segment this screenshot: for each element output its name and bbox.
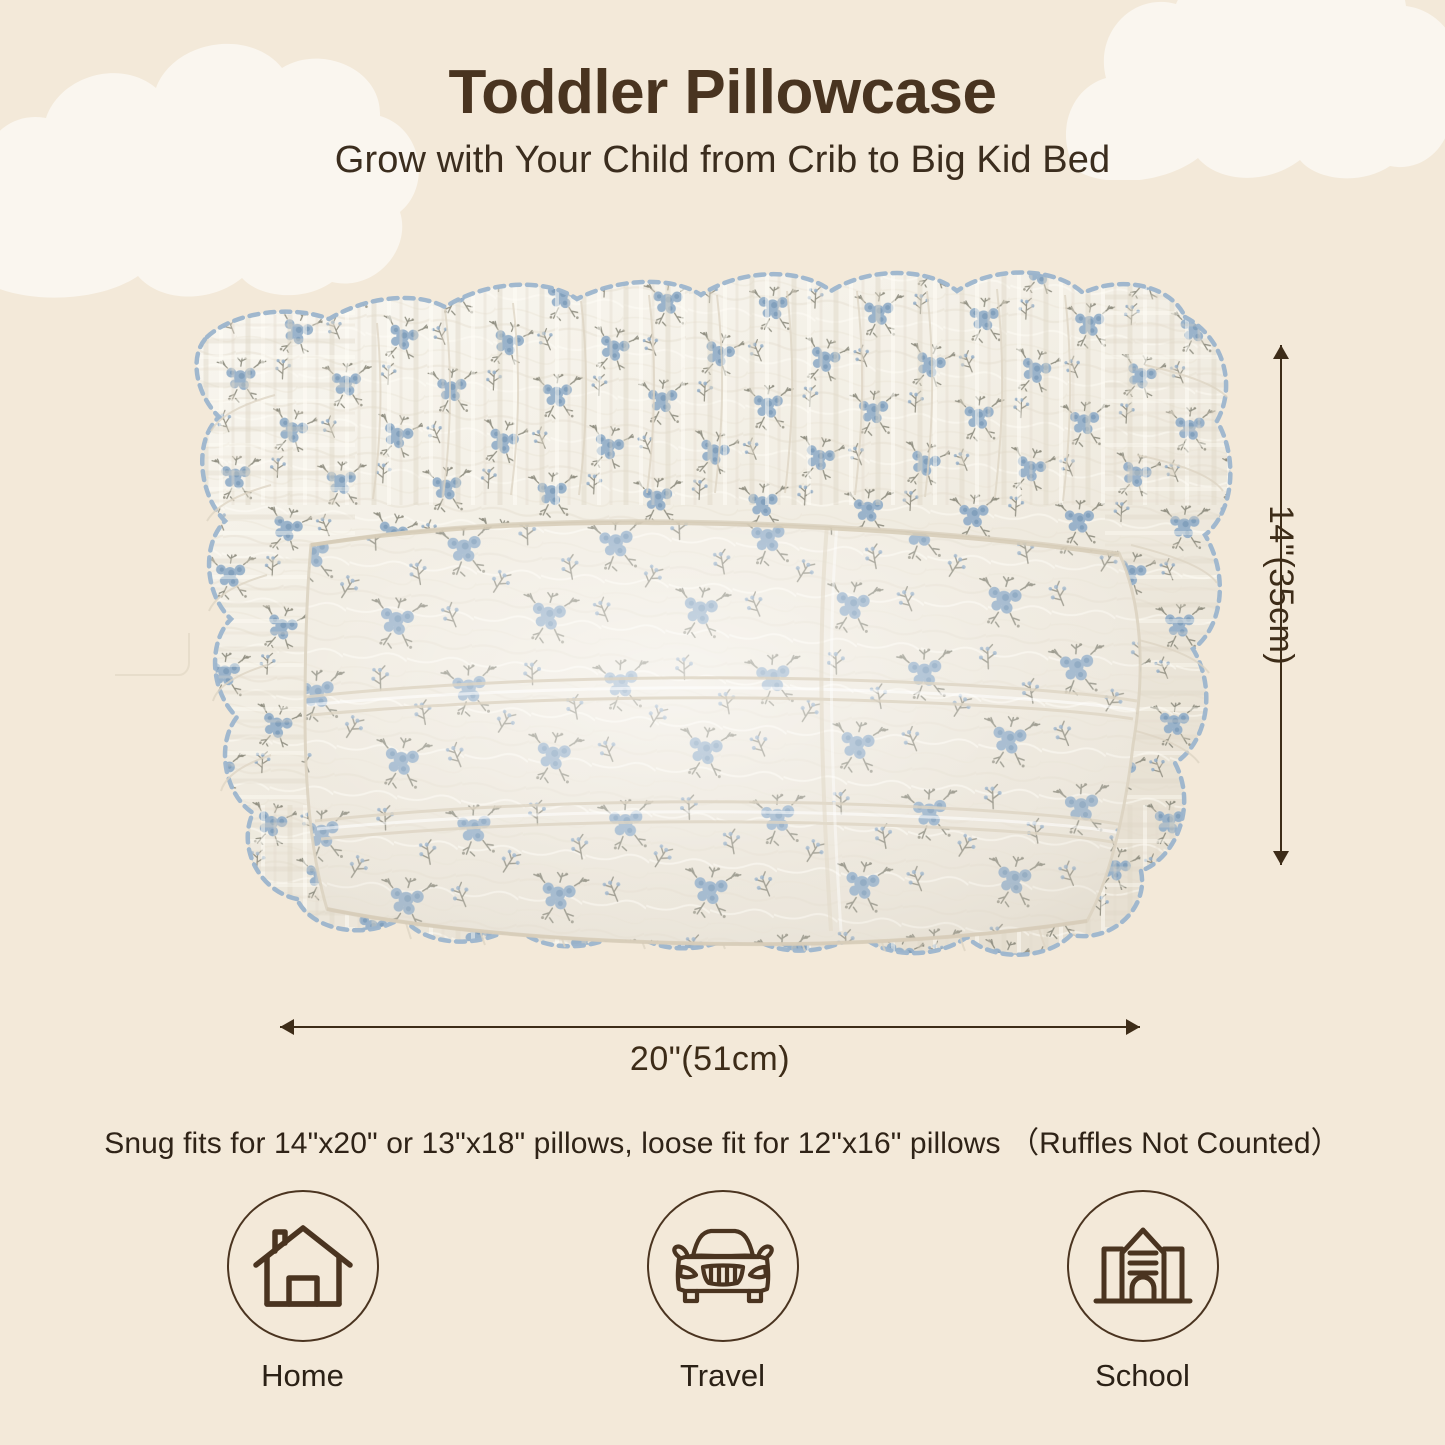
house-icon [251,1218,355,1314]
dimension-arrow-horizontal: 20"(51cm) [280,1010,1140,1080]
arrow-shaft [280,1026,1140,1028]
car-icon [669,1223,777,1309]
school-icon [1090,1219,1196,1313]
page-subtitle: Grow with Your Child from Crib to Big Ki… [0,139,1445,182]
page-title: Toddler Pillowcase [0,60,1445,125]
fit-note: Snug fits for 14"x20" or 13"x18" pillows… [0,1118,1445,1162]
arrow-head-up [1273,345,1289,359]
use-case-label: Travel [680,1358,765,1394]
dimension-label-height: 14"(35cm) [1261,505,1300,665]
arrow-head-down [1273,851,1289,865]
dimension-arrow-vertical: 14"(35cm) [1248,345,1368,865]
use-case-label: Home [261,1358,344,1394]
pillowcase-illustration [115,245,1275,960]
infographic-canvas: Toddler Pillowcase Grow with Your Child … [0,0,1445,1445]
arrow-head-right [1126,1019,1140,1035]
use-case-label: School [1095,1358,1190,1394]
arrow-head-left [280,1019,294,1035]
use-case-school: School [933,1190,1353,1394]
use-case-row: Home [0,1190,1445,1425]
dimension-label-width: 20"(51cm) [280,1040,1140,1079]
car-icon-circle [647,1190,799,1342]
school-icon-circle [1067,1190,1219,1342]
photo-edge-artifact [115,633,189,675]
toddler-pillowcase-photo [115,245,1275,960]
house-icon-circle [227,1190,379,1342]
header-block: Toddler Pillowcase Grow with Your Child … [0,60,1445,182]
use-case-home: Home [93,1190,513,1394]
use-case-travel: Travel [513,1190,933,1394]
